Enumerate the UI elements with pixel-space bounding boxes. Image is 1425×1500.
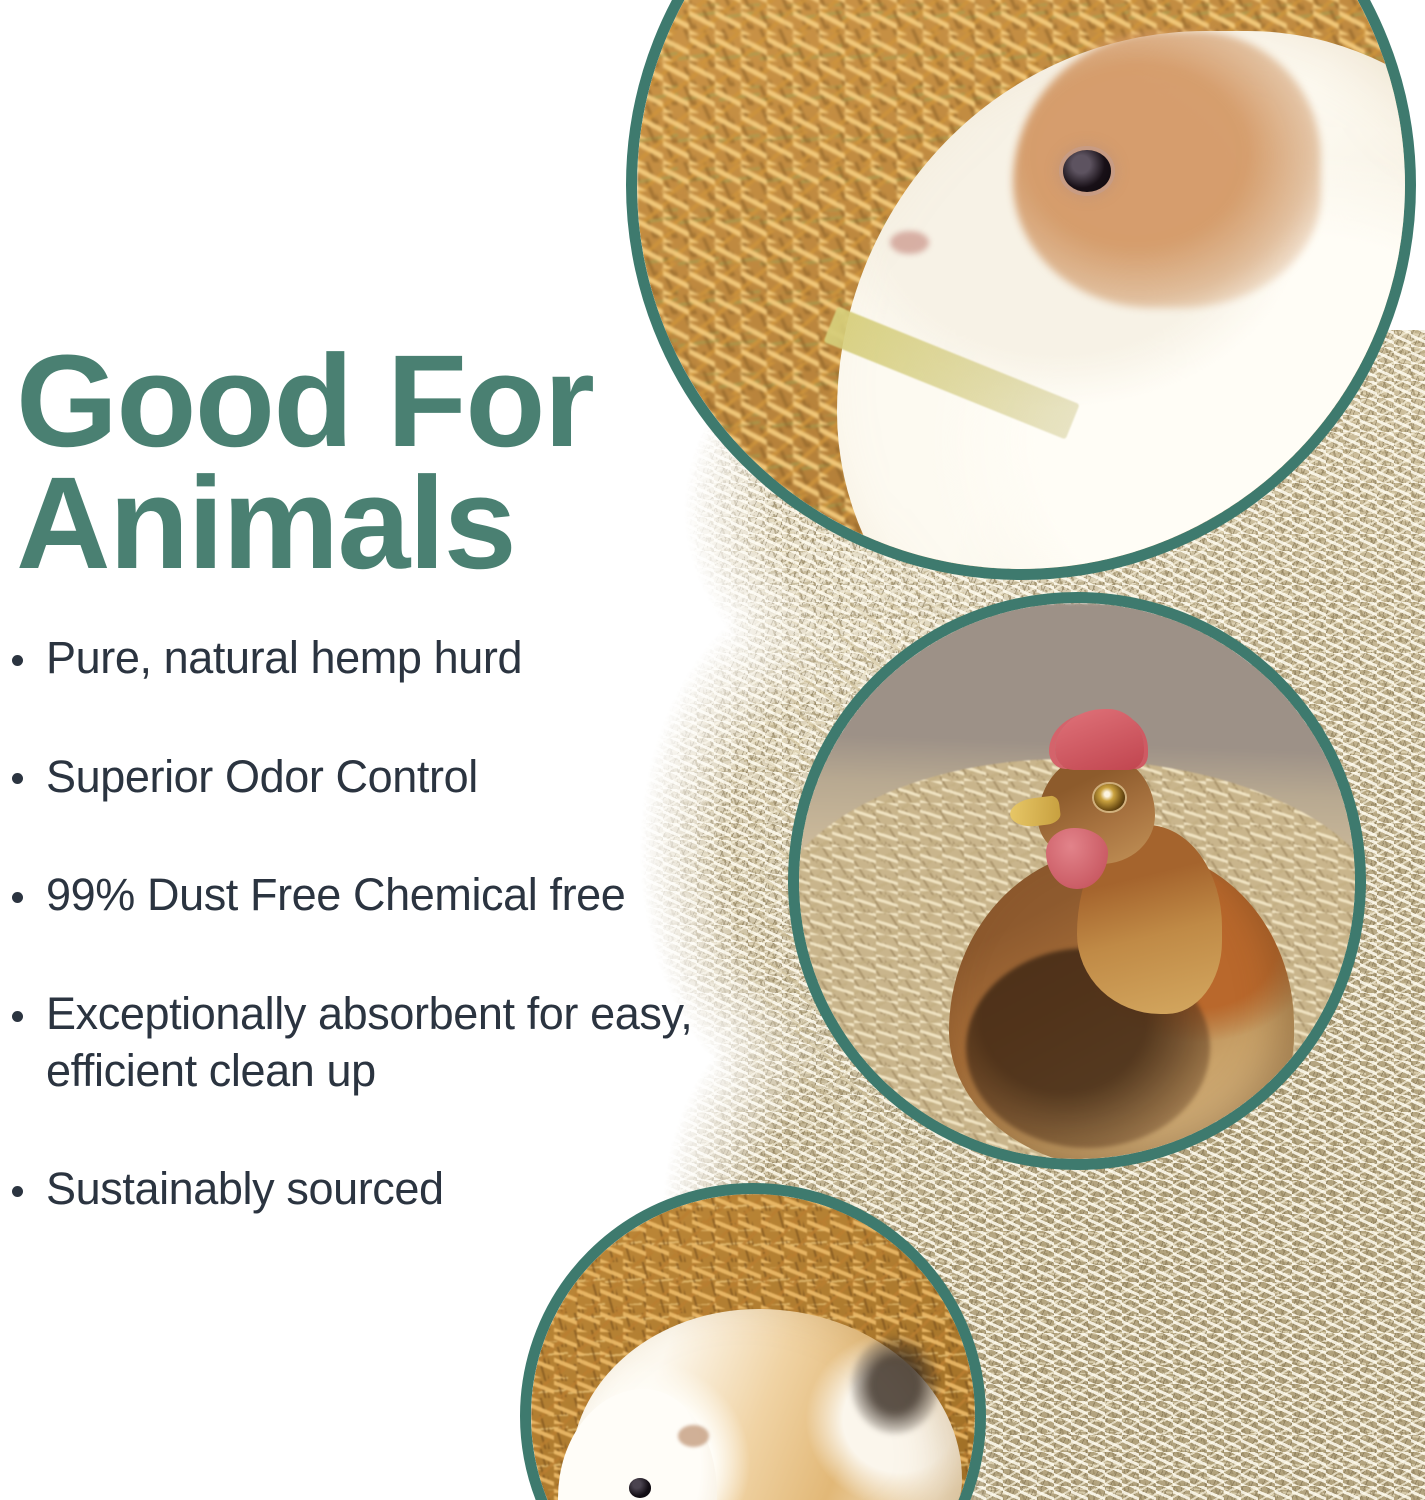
guinea-pig-rump-marking (851, 1336, 940, 1434)
list-item: 99% Dust Free Chemical free (8, 867, 720, 924)
guinea-pig-photo-inner (531, 1194, 975, 1500)
guinea-pig-ear (678, 1425, 709, 1447)
guinea-pig-eye (629, 1478, 651, 1498)
chicken-photo-inner (799, 603, 1355, 1159)
chicken-photo (788, 592, 1366, 1170)
list-item: Superior Odor Control (8, 749, 720, 806)
feature-list: Pure, natural hemp hurd Superior Odor Co… (8, 630, 720, 1218)
rabbit-eye (1063, 150, 1111, 191)
list-item: Sustainably sourced (8, 1161, 720, 1218)
guinea-pig-photo (520, 1183, 986, 1500)
rabbit-photo-inner (637, 0, 1405, 569)
rabbit-nose (890, 231, 928, 254)
hen-eye (1094, 784, 1125, 812)
rabbit-cheek-marking (1013, 31, 1320, 307)
page-title: Good For Animals (16, 340, 666, 584)
rabbit-photo (626, 0, 1416, 580)
product-feature-banner: Good For Animals Pure, natural hemp hurd… (0, 0, 1425, 1500)
list-item: Exceptionally absorbent for easy, effici… (8, 986, 720, 1099)
list-item: Pure, natural hemp hurd (8, 630, 720, 687)
